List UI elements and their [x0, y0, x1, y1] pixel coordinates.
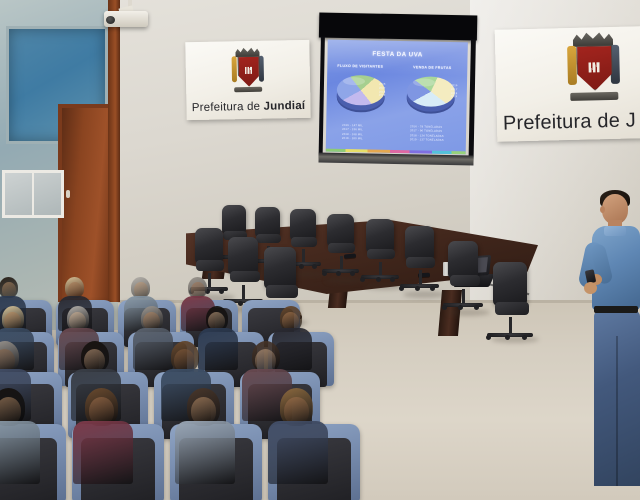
legend-entry: 2019 [379, 94, 386, 98]
chair-seat [266, 285, 298, 298]
chair-caster [430, 286, 435, 291]
sign-prefeitura-left: Prefeitura de Jundiaí [185, 40, 310, 120]
chair-post [462, 289, 465, 304]
legend-entry: 2019 [451, 95, 458, 99]
presenter-collar [604, 226, 626, 236]
chair-backrest [366, 219, 394, 253]
coat-of-arms-icon [565, 31, 623, 102]
chair-post [242, 285, 245, 300]
window-mullion [32, 172, 34, 216]
chair-backrest [228, 237, 258, 275]
screen-border-right [469, 39, 476, 161]
sign-right-city: J [626, 109, 637, 131]
pie-b-legend: 2016201720182019 [451, 84, 458, 99]
projection-screen: FESTA DA UVA FLUXO DE VISITANTES VENDA D… [317, 12, 478, 155]
person-torso [0, 421, 40, 484]
sign-prefeitura-right: Prefeitura de J [495, 26, 640, 142]
wooden-door[interactable] [62, 108, 110, 300]
projector-lens-icon [106, 16, 115, 24]
slide-content: FESTA DA UVA FLUXO DE VISITANTES VENDA D… [326, 40, 468, 155]
chair-post [302, 249, 305, 263]
chair-backrest [493, 262, 527, 306]
presenter-belt [594, 306, 638, 313]
pie-chart-frutas [406, 73, 455, 118]
screen-valance [319, 12, 477, 40]
chair-seat [196, 260, 224, 271]
chair-post [419, 270, 422, 285]
chair-post [340, 256, 343, 270]
chair-caster [415, 286, 420, 291]
chair-backrest [448, 241, 478, 279]
presenter-ear [600, 206, 605, 213]
chair-backrest [405, 226, 434, 261]
chair-shadow [491, 336, 539, 343]
pie-a-legend: 2016201720182019 [379, 83, 386, 98]
chair-seat [495, 302, 529, 315]
chair-caster [322, 271, 327, 276]
data-label: 2019 - 137 TONELADAS [410, 138, 444, 143]
person-torso [73, 421, 133, 484]
chair-backrest [195, 228, 223, 264]
screen-border-left [319, 37, 325, 159]
chair-seat [450, 275, 480, 286]
sign-left-prefix: Prefeitura de [192, 101, 264, 114]
chair-seat [406, 257, 435, 268]
door-handle-icon[interactable] [66, 190, 70, 198]
chair-seat [256, 234, 281, 243]
sign-left-city: Jundiaí [263, 100, 305, 113]
chair-post [208, 273, 211, 288]
pie-a-data-labels: 2016 - 147 MIL2017 - 156 MIL2018 - 168 M… [342, 124, 363, 142]
trouser-seam [616, 336, 618, 486]
person-torso [268, 421, 328, 484]
sign-right-text: Prefeitura de J [503, 109, 640, 136]
chair-backrest [264, 247, 296, 289]
person-torso [175, 421, 235, 484]
chair-seat [230, 271, 260, 282]
chair-post [379, 262, 382, 277]
door-jamb [108, 0, 120, 302]
sign-right-prefix: Prefeitura de [503, 110, 626, 135]
presenter-hand-left [584, 282, 597, 294]
chair-seat [328, 243, 355, 253]
sign-left-text: Prefeitura de Jundiaí [186, 100, 310, 114]
presenter [578, 186, 640, 500]
conference-room-photo: Prefeitura de Jundiaí Prefeitura de J FE… [0, 0, 640, 500]
coat-of-arms-icon [230, 47, 265, 94]
chair-shadow [446, 309, 490, 316]
pie-b-data-labels: 2016 - 78 TONELADAS2017 - 96 TONELADAS20… [410, 125, 444, 143]
person-torso [198, 328, 238, 370]
chair-seat [291, 237, 317, 247]
data-label: 2019 - 180 MIL [342, 137, 363, 142]
person-torso [133, 328, 173, 370]
chair-seat [367, 249, 395, 259]
chair-shadow [403, 291, 446, 298]
chair-post [509, 317, 512, 334]
chair-caster [505, 335, 510, 340]
